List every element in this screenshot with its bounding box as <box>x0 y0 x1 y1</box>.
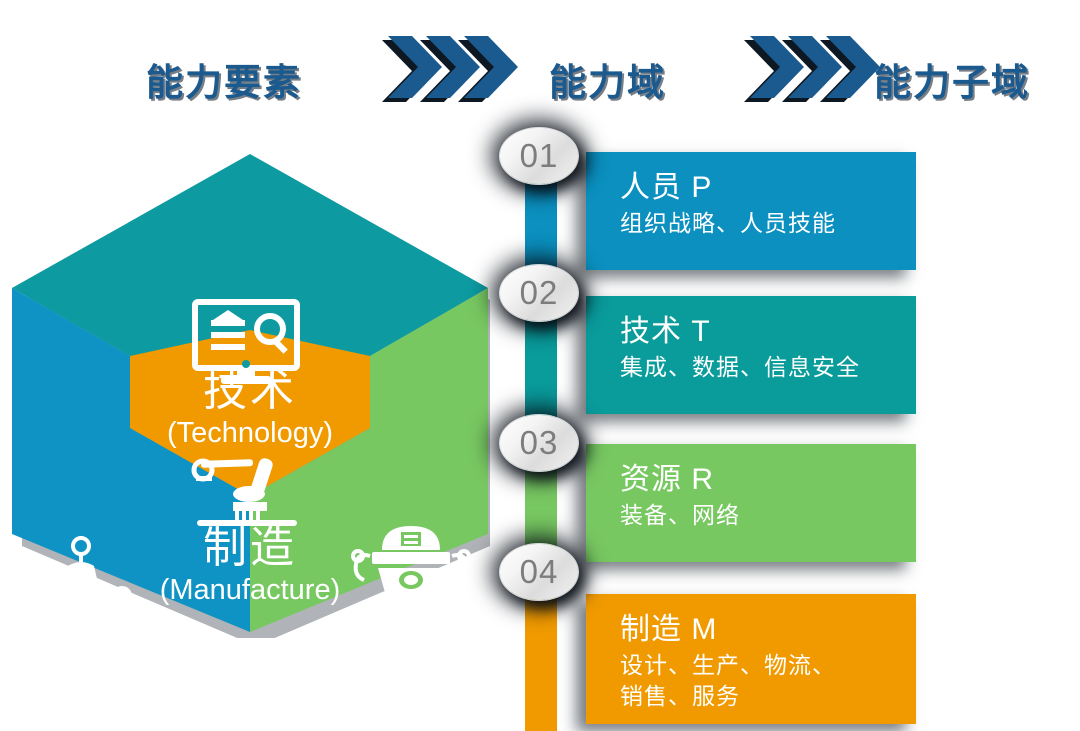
step-badge-01[interactable]: 01 <box>500 128 578 184</box>
step-badge-03[interactable]: 03 <box>500 415 578 471</box>
capability-panel-manufacture[interactable]: 制造 M 设计、生产、物流、 销售、服务 <box>586 594 916 724</box>
step-label-capability-subdomain: 能力子域 <box>874 52 1030 106</box>
cube-label-resources: 资源 (Resources) <box>232 628 462 712</box>
cube-label-personnel-en: (Personnel) <box>45 678 275 712</box>
step-badge-04[interactable]: 04 <box>500 544 578 600</box>
capability-cube: 技术 (Technology) 制造 (Manufacture) 人员 (Per… <box>0 138 500 638</box>
panel-title: 资源 R <box>620 460 916 500</box>
panel-title: 制造 M <box>620 610 916 650</box>
cube-label-resources-en: (Resources) <box>232 678 462 712</box>
panel-subtitle: 设计、生产、物流、 销售、服务 <box>620 650 916 712</box>
step-label-capability-domain: 能力域 <box>549 52 666 106</box>
panel-title: 技术 T <box>620 312 916 352</box>
panel-title: 人员 P <box>620 168 916 208</box>
rail-segment-04 <box>525 586 557 731</box>
cube-shape <box>0 138 500 638</box>
step-label-capability-elements: 能力要素 <box>146 52 302 106</box>
capability-panel-technology[interactable]: 技术 T 集成、数据、信息安全 <box>586 296 916 414</box>
step-badge-02[interactable]: 02 <box>500 265 578 321</box>
chevron-right-triple-icon <box>378 34 518 108</box>
diagram-canvas: 能力要素 能力域 能力子域 <box>0 0 1080 731</box>
panel-subtitle: 装备、网络 <box>620 500 916 531</box>
capability-panel-resources[interactable]: 资源 R 装备、网络 <box>586 444 916 562</box>
cube-label-personnel: 人员 (Personnel) <box>45 628 275 712</box>
capability-panel-personnel[interactable]: 人员 P 组织战略、人员技能 <box>586 152 916 270</box>
panel-subtitle: 组织战略、人员技能 <box>620 208 916 239</box>
chevron-right-triple-icon <box>740 34 880 108</box>
panel-subtitle: 集成、数据、信息安全 <box>620 352 916 383</box>
